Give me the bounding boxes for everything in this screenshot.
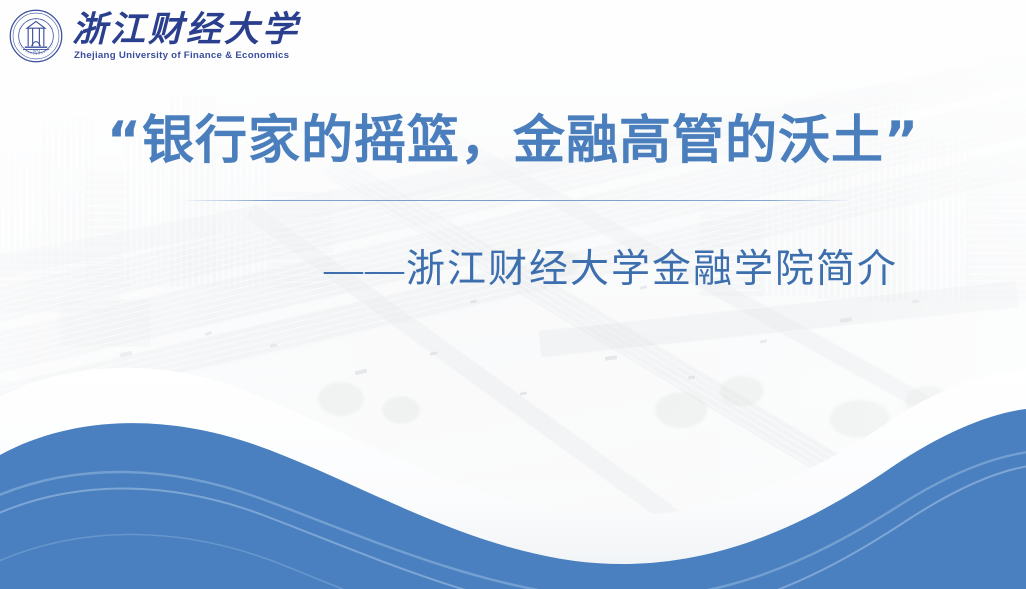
page-subtitle: ——浙江财经大学金融学院简介 [324, 238, 898, 294]
university-name-block: 浙江财经大学 Zhejiang University of Finance & … [72, 12, 300, 61]
title-slide: 1974 浙江财经大学 Zhejiang University of Finan… [0, 0, 1026, 589]
background-edge-overlay [0, 0, 1026, 589]
university-name-cn: 浙江财经大学 [72, 12, 300, 47]
svg-text:1974: 1974 [32, 50, 40, 54]
university-seal-icon: 1974 [8, 8, 64, 64]
university-name-en: Zhejiang University of Finance & Economi… [74, 51, 305, 61]
university-logo: 1974 浙江财经大学 Zhejiang University of Finan… [8, 8, 300, 64]
page-title: “银行家的摇篮，金融高管的沃土” [0, 112, 1026, 172]
background-aerial-photo [0, 0, 1026, 589]
title-underline-rule [185, 200, 850, 201]
page-title-text: “银行家的摇篮，金融高管的沃土” [0, 112, 1026, 172]
